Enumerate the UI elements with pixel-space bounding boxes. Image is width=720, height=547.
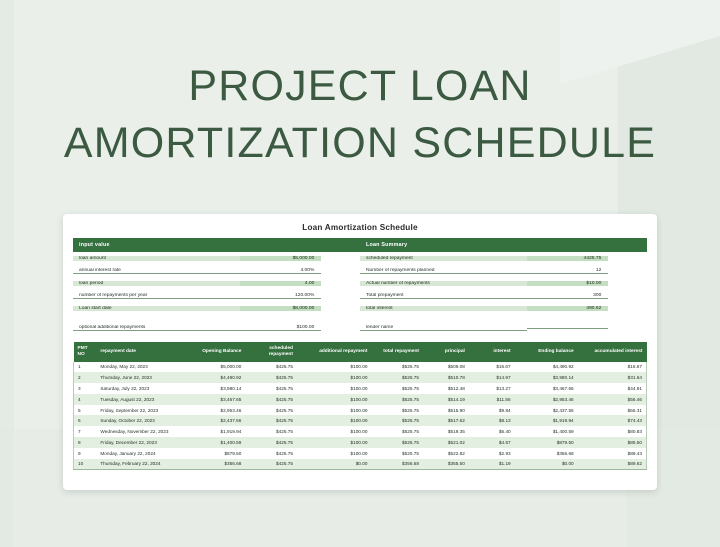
table-cell[interactable]: $14.97: [469, 372, 515, 383]
page-title-line-2: AMORTIZATION SCHEDULE: [0, 115, 720, 172]
table-cell[interactable]: $0.00: [515, 459, 578, 470]
table-cell[interactable]: $100.00: [297, 362, 371, 373]
loan-summary-label: lender name: [360, 325, 527, 331]
table-cell[interactable]: 3: [74, 383, 97, 394]
loan-summary-row[interactable]: Total prepayment300: [360, 290, 647, 303]
schedule-body: 1Monday, May 22, 2023$5,000.00$425.75$10…: [74, 362, 647, 470]
input-value-value[interactable]: 4.00%: [240, 268, 322, 274]
table-cell[interactable]: 1: [74, 362, 97, 373]
table-cell[interactable]: $425.75: [245, 459, 297, 470]
input-value-rows: loan amount$5,000.00annual interest rate…: [73, 252, 360, 335]
table-cell[interactable]: $425.75: [245, 415, 297, 426]
table-cell[interactable]: $100.00: [297, 415, 371, 426]
amortization-schedule: PMT NOrepayment dateOpening Balancesched…: [73, 342, 647, 471]
table-cell[interactable]: $515.90: [423, 405, 469, 416]
loan-summary-label: Number of repayments planned: [360, 268, 527, 274]
table-cell[interactable]: Monday, May 22, 2023: [96, 362, 193, 373]
table-cell[interactable]: $31.64: [578, 372, 647, 383]
table-row[interactable]: 8Friday, December 22, 2023$1,400.59$425.…: [74, 437, 647, 448]
table-cell[interactable]: $56.46: [578, 394, 647, 405]
input-value-value[interactable]: $5,000.00: [240, 256, 322, 261]
table-cell[interactable]: $425.75: [245, 394, 297, 405]
input-value-row[interactable]: optional additional repayments$100.00: [73, 322, 360, 335]
schedule-column-header[interactable]: PMT NO: [74, 342, 97, 362]
table-cell[interactable]: 8: [74, 437, 97, 448]
table-cell[interactable]: $2,437.56: [515, 405, 578, 416]
spreadsheet-card: Loan Amortization Schedule input value l…: [63, 214, 657, 490]
schedule-column-header[interactable]: interest: [469, 342, 515, 362]
table-row[interactable]: 2Thursday, June 22, 2023$4,490.92$425.75…: [74, 372, 647, 383]
table-cell[interactable]: $66.31: [578, 405, 647, 416]
input-value-row[interactable]: annual interest rate4.00%: [73, 265, 360, 278]
table-cell[interactable]: Wednesday, November 22, 2023: [96, 426, 193, 437]
table-cell[interactable]: $2,953.46: [194, 405, 246, 416]
schedule-column-header[interactable]: accumulated interest: [578, 342, 647, 362]
table-cell[interactable]: $425.75: [245, 448, 297, 459]
table-cell[interactable]: 4: [74, 394, 97, 405]
table-cell[interactable]: $525.75: [371, 415, 423, 426]
input-value-panel-heading: input value: [73, 238, 360, 252]
table-cell[interactable]: $88.43: [578, 448, 647, 459]
input-value-value[interactable]: $8,000.00: [240, 306, 322, 311]
table-cell[interactable]: $100.00: [297, 426, 371, 437]
schedule-column-header[interactable]: scheduled repayment: [245, 342, 297, 362]
table-row[interactable]: 10Thursday, February 22, 2024$356.68$425…: [74, 459, 647, 470]
table-cell[interactable]: $510.78: [423, 372, 469, 383]
schedule-table: PMT NOrepayment dateOpening Balancesched…: [73, 342, 647, 471]
loan-summary-value[interactable]: [527, 328, 609, 329]
table-cell[interactable]: $1,400.59: [194, 437, 246, 448]
table-cell[interactable]: $525.75: [371, 448, 423, 459]
loan-summary-value[interactable]: 12: [527, 268, 609, 274]
sheet-title: Loan Amortization Schedule: [63, 214, 657, 238]
input-value-value[interactable]: 120.00%: [240, 293, 322, 299]
input-value-label: optional additional repayments: [73, 325, 240, 331]
loan-summary-panel-heading: Loan Summary: [360, 238, 647, 252]
schedule-column-header[interactable]: additional repayment: [297, 342, 371, 362]
table-cell[interactable]: 7: [74, 426, 97, 437]
table-cell[interactable]: $100.00: [297, 405, 371, 416]
table-cell[interactable]: $2.93: [469, 448, 515, 459]
table-cell[interactable]: $100.00: [297, 437, 371, 448]
schedule-column-header[interactable]: total repayment: [371, 342, 423, 362]
table-cell[interactable]: Saturday, July 22, 2023: [96, 383, 193, 394]
input-value-label: annual interest rate: [73, 268, 240, 274]
table-cell[interactable]: $525.75: [371, 426, 423, 437]
table-cell[interactable]: $525.75: [371, 405, 423, 416]
table-cell[interactable]: $425.75: [245, 383, 297, 394]
table-cell[interactable]: $879.50: [515, 437, 578, 448]
loan-summary-value[interactable]: $10.00: [527, 281, 609, 286]
table-cell[interactable]: $8.13: [469, 415, 515, 426]
table-cell[interactable]: $519.35: [423, 426, 469, 437]
loan-summary-row[interactable]: lender name: [360, 322, 647, 335]
input-value-row[interactable]: number of repayments per year120.00%: [73, 290, 360, 303]
table-cell[interactable]: $2,953.46: [515, 394, 578, 405]
table-cell[interactable]: $356.68: [194, 459, 246, 470]
table-cell[interactable]: $425.75: [245, 372, 297, 383]
table-row[interactable]: 4Tuesday, August 22, 2023$3,467.65$425.7…: [74, 394, 647, 405]
table-cell[interactable]: $356.68: [515, 448, 578, 459]
table-cell[interactable]: $13.27: [469, 383, 515, 394]
table-cell[interactable]: 10: [74, 459, 97, 470]
table-cell[interactable]: $1,400.59: [515, 426, 578, 437]
table-cell[interactable]: $3,980.14: [194, 383, 246, 394]
input-value-label: Loan start date: [73, 306, 240, 311]
table-cell[interactable]: $512.48: [423, 383, 469, 394]
table-cell[interactable]: $2,437.56: [194, 415, 246, 426]
summary-panels: input value loan amount$5,000.00annual i…: [63, 238, 657, 335]
table-cell[interactable]: $525.75: [371, 437, 423, 448]
schedule-column-header[interactable]: repayment date: [96, 342, 193, 362]
input-value-value[interactable]: $100.00: [240, 325, 322, 331]
loan-summary-panel: Loan Summary scheduled repayment4425.75N…: [360, 238, 647, 335]
input-value-label: loan amount: [73, 256, 240, 261]
table-cell[interactable]: $4,490.92: [515, 362, 578, 373]
table-row[interactable]: 3Saturday, July 22, 2023$3,980.14$425.75…: [74, 383, 647, 394]
table-cell[interactable]: $522.82: [423, 448, 469, 459]
table-row[interactable]: 1Monday, May 22, 2023$5,000.00$425.75$10…: [74, 362, 647, 373]
table-cell[interactable]: $100.00: [297, 372, 371, 383]
loan-summary-label: Total prepayment: [360, 293, 527, 299]
table-cell[interactable]: $1,919.94: [515, 415, 578, 426]
table-cell[interactable]: $9.84: [469, 405, 515, 416]
loan-summary-row[interactable]: Actual number of repayments$10.00: [360, 277, 647, 290]
loan-summary-rows: scheduled repayment4425.75Number of repa…: [360, 252, 647, 335]
table-cell[interactable]: $525.75: [371, 372, 423, 383]
table-cell[interactable]: Friday, September 22, 2023: [96, 405, 193, 416]
table-row[interactable]: 7Wednesday, November 22, 2023$1,919.94$4…: [74, 426, 647, 437]
table-row[interactable]: 6Sunday, October 22, 2023$2,437.56$425.7…: [74, 415, 647, 426]
table-cell[interactable]: $80.83: [578, 426, 647, 437]
table-cell[interactable]: 9: [74, 448, 97, 459]
loan-summary-row[interactable]: Number of repayments planned12: [360, 265, 647, 278]
table-cell[interactable]: $517.62: [423, 415, 469, 426]
table-cell[interactable]: $1,919.94: [194, 426, 246, 437]
table-cell[interactable]: $16.67: [469, 362, 515, 373]
loan-summary-label: total interest: [360, 306, 527, 311]
table-cell[interactable]: $0.00: [297, 459, 371, 470]
table-cell[interactable]: $521.02: [423, 437, 469, 448]
schedule-column-header[interactable]: Opening Balance: [194, 342, 246, 362]
table-cell[interactable]: $85.50: [578, 437, 647, 448]
table-cell[interactable]: $100.00: [297, 448, 371, 459]
table-row[interactable]: 9Monday, January 22, 2024$879.50$425.75$…: [74, 448, 647, 459]
schedule-column-header[interactable]: Ending balance: [515, 342, 578, 362]
table-cell[interactable]: $44.91: [578, 383, 647, 394]
table-cell[interactable]: $525.75: [371, 394, 423, 405]
table-cell[interactable]: $525.75: [371, 383, 423, 394]
table-cell[interactable]: $425.75: [245, 405, 297, 416]
loan-summary-row[interactable]: total interest490.62: [360, 302, 647, 315]
input-value-row[interactable]: loan amount$5,000.00: [73, 252, 360, 265]
loan-summary-label: Actual number of repayments: [360, 281, 527, 286]
table-cell[interactable]: $4.67: [469, 437, 515, 448]
table-cell[interactable]: Monday, January 22, 2024: [96, 448, 193, 459]
loan-summary-value[interactable]: 300: [527, 293, 609, 299]
table-cell[interactable]: $355.50: [423, 459, 469, 470]
table-row[interactable]: 5Friday, September 22, 2023$2,953.46$425…: [74, 405, 647, 416]
loan-summary-value[interactable]: 490.62: [527, 306, 609, 311]
table-cell[interactable]: Friday, December 22, 2023: [96, 437, 193, 448]
table-cell[interactable]: $100.00: [297, 383, 371, 394]
schedule-column-header[interactable]: principal: [423, 342, 469, 362]
table-cell[interactable]: 6: [74, 415, 97, 426]
table-cell[interactable]: 2: [74, 372, 97, 383]
table-cell[interactable]: Tuesday, August 22, 2023: [96, 394, 193, 405]
table-cell[interactable]: $3,980.14: [515, 372, 578, 383]
table-cell[interactable]: $16.67: [578, 362, 647, 373]
input-value-label: number of repayments per year: [73, 293, 240, 299]
table-cell[interactable]: $879.50: [194, 448, 246, 459]
table-cell[interactable]: $4,490.92: [194, 372, 246, 383]
table-cell[interactable]: Sunday, October 22, 2023: [96, 415, 193, 426]
table-cell[interactable]: $425.75: [245, 362, 297, 373]
table-cell[interactable]: $89.62: [578, 459, 647, 470]
table-cell[interactable]: $525.75: [371, 362, 423, 373]
loan-summary-label: scheduled repayment: [360, 256, 527, 261]
table-cell[interactable]: $425.75: [245, 426, 297, 437]
table-cell[interactable]: $3,467.65: [194, 394, 246, 405]
table-cell[interactable]: $1.19: [469, 459, 515, 470]
table-cell[interactable]: $3,467.65: [515, 383, 578, 394]
input-value-row[interactable]: loan period4.00: [73, 277, 360, 290]
loan-summary-row[interactable]: scheduled repayment4425.75: [360, 252, 647, 265]
table-cell[interactable]: $5,000.00: [194, 362, 246, 373]
input-value-panel: input value loan amount$5,000.00annual i…: [73, 238, 360, 335]
schedule-header-row: PMT NOrepayment dateOpening Balancesched…: [74, 342, 647, 362]
table-cell[interactable]: $356.68: [371, 459, 423, 470]
table-cell[interactable]: $425.75: [245, 437, 297, 448]
table-cell[interactable]: $514.19: [423, 394, 469, 405]
page-title: PROJECT LOAN AMORTIZATION SCHEDULE: [0, 58, 720, 172]
table-cell[interactable]: $509.08: [423, 362, 469, 373]
loan-summary-value[interactable]: 4425.75: [527, 256, 609, 261]
table-cell[interactable]: Thursday, February 22, 2024: [96, 459, 193, 470]
table-cell[interactable]: Thursday, June 22, 2023: [96, 372, 193, 383]
input-value-value[interactable]: 4.00: [240, 281, 322, 286]
table-cell[interactable]: $100.00: [297, 394, 371, 405]
table-cell[interactable]: 5: [74, 405, 97, 416]
table-cell[interactable]: $11.56: [469, 394, 515, 405]
input-value-spacer: [73, 315, 360, 322]
input-value-row[interactable]: Loan start date$8,000.00: [73, 302, 360, 315]
loan-summary-spacer: [360, 315, 647, 322]
table-cell[interactable]: $74.43: [578, 415, 647, 426]
table-cell[interactable]: $6.40: [469, 426, 515, 437]
page-title-line-1: PROJECT LOAN: [0, 58, 720, 115]
input-value-label: loan period: [73, 281, 240, 286]
